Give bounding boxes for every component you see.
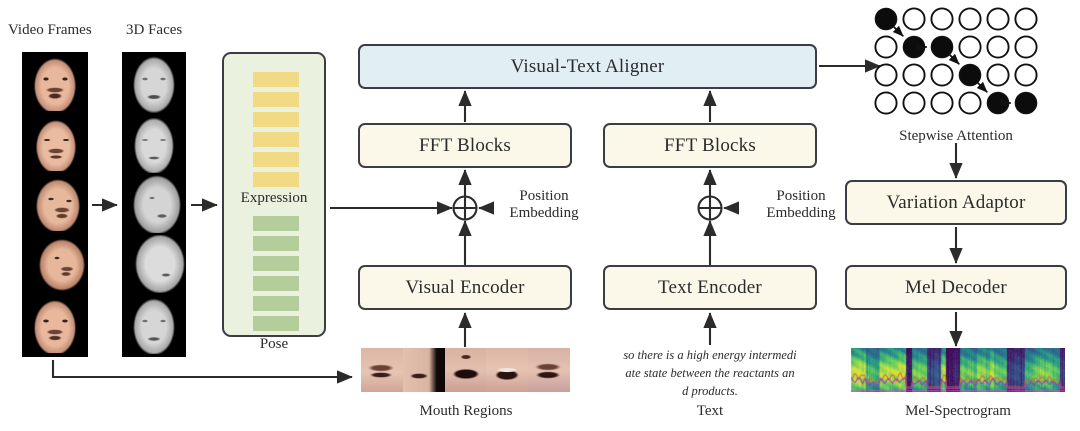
- attention-cell: [903, 64, 924, 85]
- input-text-line-2: ate state between the reactants an: [600, 364, 820, 382]
- fft-blocks-visual[interactable]: FFT Blocks: [358, 123, 572, 168]
- attention-step-arrow: [950, 55, 959, 64]
- expression-bar: [253, 92, 299, 107]
- video-frame: [22, 176, 88, 231]
- face-mesh-frame: [122, 175, 186, 233]
- attention-cell: [875, 64, 896, 85]
- face-mesh-frame: [122, 115, 186, 173]
- attention-cell-active: [1015, 92, 1036, 113]
- mel-decoder-block[interactable]: Mel Decoder: [845, 265, 1067, 310]
- expression-bar: [253, 172, 299, 187]
- arrow-frames-to-mouth: [53, 360, 352, 377]
- mel-spectrogram-canvas: [851, 348, 1065, 392]
- attention-cell: [1015, 64, 1036, 85]
- attention-cell: [959, 92, 980, 113]
- stepwise-attention-grid: [875, 8, 1036, 113]
- text-caption-label: Text: [660, 403, 760, 420]
- attention-cell: [1015, 36, 1036, 57]
- expression-bar: [253, 152, 299, 167]
- input-text-line-1: so there is a high energy intermedi: [600, 346, 820, 364]
- position-embedding-visual-line2: Embedding: [489, 205, 599, 222]
- video-frames-filmstrip: [22, 52, 88, 357]
- attention-cell: [959, 36, 980, 57]
- attention-cell: [987, 36, 1008, 57]
- video-frame: [22, 236, 88, 291]
- attention-step-arrow: [978, 83, 987, 92]
- position-embedding-visual-line1: Position: [489, 188, 599, 205]
- mouth-frame: [403, 348, 445, 392]
- figure-canvas: Video Frames 3D Faces: [0, 0, 1080, 431]
- position-embedding-text-line1: Position: [746, 188, 856, 205]
- attention-cell: [875, 92, 896, 113]
- expression-bar: [253, 132, 299, 147]
- video-frame: [22, 296, 88, 353]
- mouth-frame: [528, 348, 570, 392]
- attention-cell-active: [959, 64, 980, 85]
- face-mesh-frame: [122, 295, 186, 354]
- attention-cell: [931, 8, 952, 29]
- circled-plus-icon-visual: [454, 197, 477, 220]
- mouth-regions-filmstrip: [361, 348, 570, 392]
- fft-blocks-text[interactable]: FFT Blocks: [603, 123, 817, 168]
- pose-bar: [253, 276, 299, 291]
- mel-spectrogram-image: [851, 348, 1065, 392]
- visual-text-aligner-block[interactable]: Visual-Text Aligner: [358, 44, 817, 89]
- variation-adaptor-block[interactable]: Variation Adaptor: [845, 180, 1067, 225]
- attention-cell: [959, 8, 980, 29]
- attention-cell-active: [903, 36, 924, 57]
- text-encoder-block[interactable]: Text Encoder: [603, 265, 817, 310]
- attention-step-arrow: [894, 27, 903, 36]
- visual-encoder-block[interactable]: Visual Encoder: [358, 265, 572, 310]
- expression-pose-panel: Expression Pose: [222, 52, 326, 337]
- mouth-frame: [361, 348, 403, 392]
- pose-bar: [253, 256, 299, 271]
- input-text-line-3: d products.: [600, 382, 820, 400]
- pose-bar: [253, 316, 299, 331]
- attention-cell-active: [931, 36, 952, 57]
- expression-bar: [253, 72, 299, 87]
- attention-cell: [875, 36, 896, 57]
- face-mesh-frame: [122, 235, 186, 293]
- attention-cell: [903, 8, 924, 29]
- 3d-faces-filmstrip: [122, 52, 186, 357]
- video-frames-label: Video Frames: [8, 22, 92, 39]
- position-embedding-visual: Position Embedding: [489, 188, 599, 223]
- mouth-frame: [445, 348, 487, 392]
- attention-cell-active: [987, 92, 1008, 113]
- expression-label: Expression: [224, 190, 324, 207]
- expression-bar: [253, 112, 299, 127]
- pose-bar: [253, 296, 299, 311]
- pose-label: Pose: [224, 336, 324, 353]
- mouth-regions-label: Mouth Regions: [406, 403, 526, 420]
- circled-plus-icon-text: [699, 197, 722, 220]
- stepwise-attention-label: Stepwise Attention: [886, 128, 1026, 145]
- position-embedding-text-line2: Embedding: [746, 205, 856, 222]
- pose-bar: [253, 236, 299, 251]
- video-frame: [22, 56, 88, 111]
- 3d-faces-label: 3D Faces: [126, 22, 182, 39]
- attention-cell: [987, 8, 1008, 29]
- mouth-frame: [486, 348, 528, 392]
- attention-cell-active: [875, 8, 896, 29]
- input-text-block: so there is a high energy intermedi ate …: [600, 346, 820, 400]
- face-mesh-frame: [122, 55, 186, 113]
- attention-cell: [903, 92, 924, 113]
- position-embedding-text: Position Embedding: [746, 188, 856, 223]
- attention-cell: [1015, 8, 1036, 29]
- attention-cell: [931, 92, 952, 113]
- attention-cell: [987, 64, 1008, 85]
- attention-cell: [931, 64, 952, 85]
- pose-bar: [253, 216, 299, 231]
- video-frame: [22, 116, 88, 171]
- mel-spectrogram-label: Mel-Spectrogram: [888, 403, 1028, 420]
